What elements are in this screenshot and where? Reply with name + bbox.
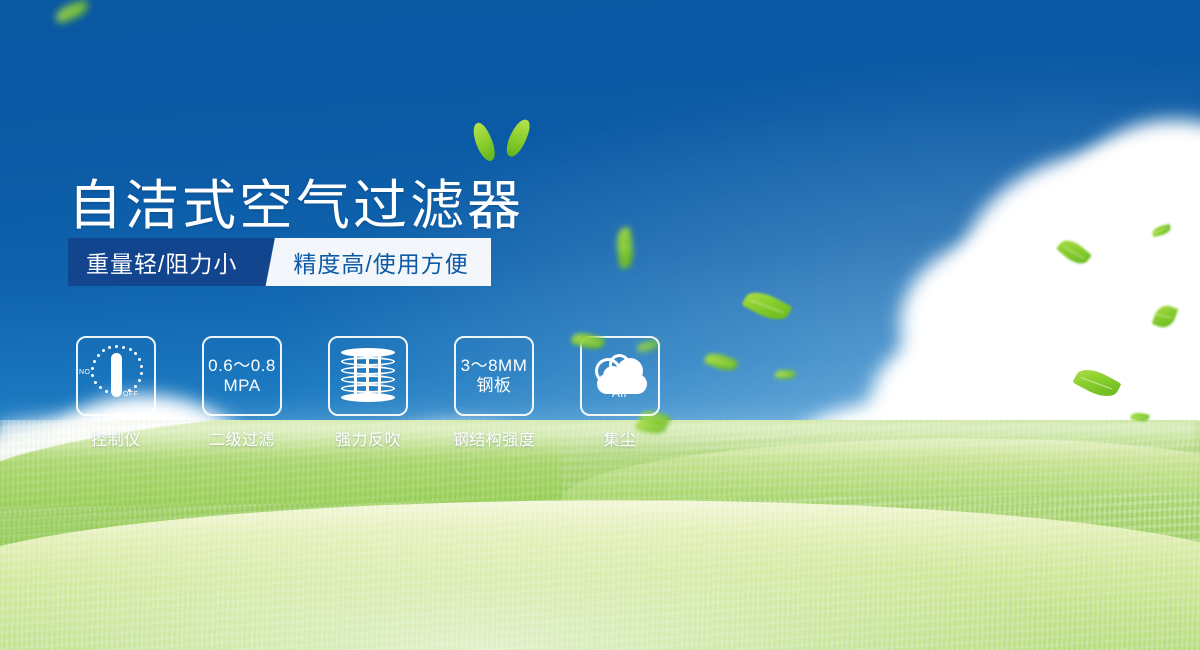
feature-item-steel[interactable]: 3～8MM 钢板 钢结构强度	[446, 336, 542, 450]
tagline-left: 重量轻/阻力小	[68, 238, 257, 286]
steel-plate-icon: 3～8MM 钢板	[461, 356, 528, 395]
dial-needle	[111, 353, 122, 397]
air-label: Air	[589, 386, 651, 400]
feature-label: 集尘	[603, 426, 636, 450]
tagline-right: 精度高/使用方便	[285, 238, 490, 286]
feature-label: 控制仪	[91, 426, 141, 450]
feature-item-controller[interactable]: NO OFF 控制仪	[68, 336, 164, 450]
control-dial-icon: NO OFF	[83, 345, 149, 407]
feature-label: 钢结构强度	[453, 426, 536, 450]
coil-filter-icon	[341, 348, 395, 404]
dial-on-label: NO	[79, 369, 91, 376]
pressure-value-icon: 0.6～0.8 MPA	[208, 356, 276, 395]
grass-highlight	[0, 500, 1200, 650]
steel-material: 钢板	[461, 376, 528, 396]
pressure-unit: MPA	[208, 376, 276, 396]
product-hero-banner: 自洁式空气过滤器 重量轻/阻力小 精度高/使用方便	[0, 0, 1200, 650]
feature-label: 二级过滤	[209, 426, 275, 450]
feature-icon-box: 3～8MM 钢板	[454, 336, 534, 416]
pressure-range: 0.6～0.8	[208, 356, 276, 376]
feature-icon-box: 0.6～0.8 MPA	[202, 336, 282, 416]
sprout-leaf-left	[469, 120, 500, 163]
feature-item-pressure[interactable]: 0.6～0.8 MPA 二级过滤	[194, 336, 290, 450]
feature-icon-box	[328, 336, 408, 416]
tagline-divider	[257, 238, 285, 286]
feature-label: 强力反吹	[335, 426, 401, 450]
feature-list: NO OFF 控制仪 0.6～0.8 MPA 二级过滤	[68, 336, 668, 450]
steel-thickness: 3～8MM	[461, 356, 528, 376]
page-title: 自洁式空气过滤器	[68, 179, 524, 233]
sprout-leaves-icon	[472, 112, 534, 164]
sprout-leaf-right	[503, 116, 533, 159]
feature-item-blowback[interactable]: 强力反吹	[320, 336, 416, 450]
grass-field	[0, 420, 1200, 650]
air-cloud-icon: Air	[589, 350, 651, 402]
dial-off-label: OFF	[123, 391, 139, 398]
feature-icon-box: NO OFF	[76, 336, 156, 416]
tagline-ribbon: 重量轻/阻力小 精度高/使用方便	[68, 238, 491, 286]
